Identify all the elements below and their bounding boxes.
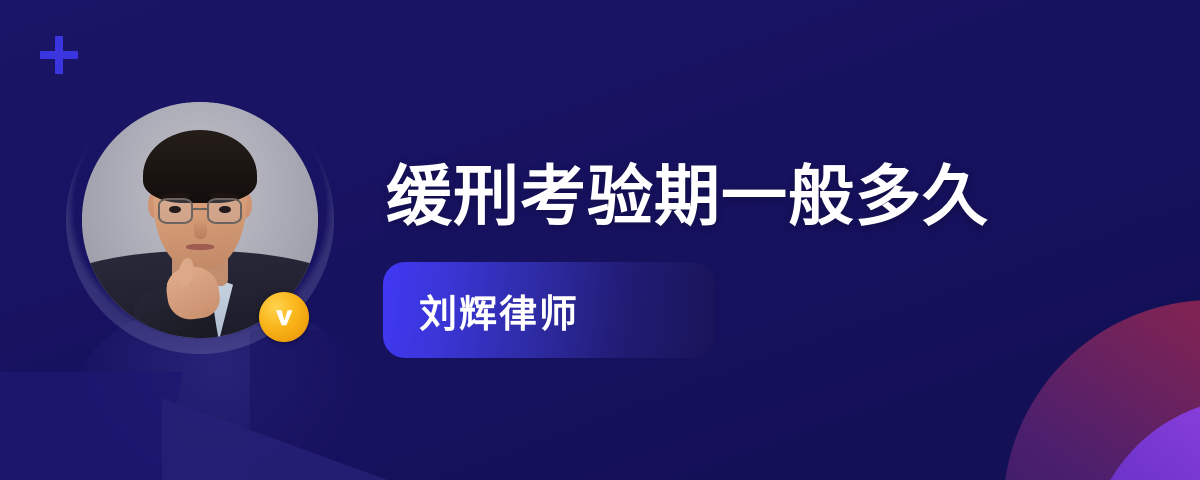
portrait-nose [194,220,207,239]
portrait-glasses-bridge [193,208,207,210]
verified-v-icon [259,292,309,342]
plus-icon [40,36,78,74]
lawyer-name-label: 刘辉律师 [419,283,579,338]
page-title: 缓刑考验期一般多久 [386,163,989,230]
avatar [66,86,334,354]
portrait-mouth [186,244,214,250]
lawyer-profile-banner: 缓刑考验期一般多久 刘辉律师 [0,0,1200,480]
portrait-eye-right [219,206,231,214]
lawyer-name-pill[interactable]: 刘辉律师 [383,262,715,358]
decor-wedge-left [0,372,183,480]
